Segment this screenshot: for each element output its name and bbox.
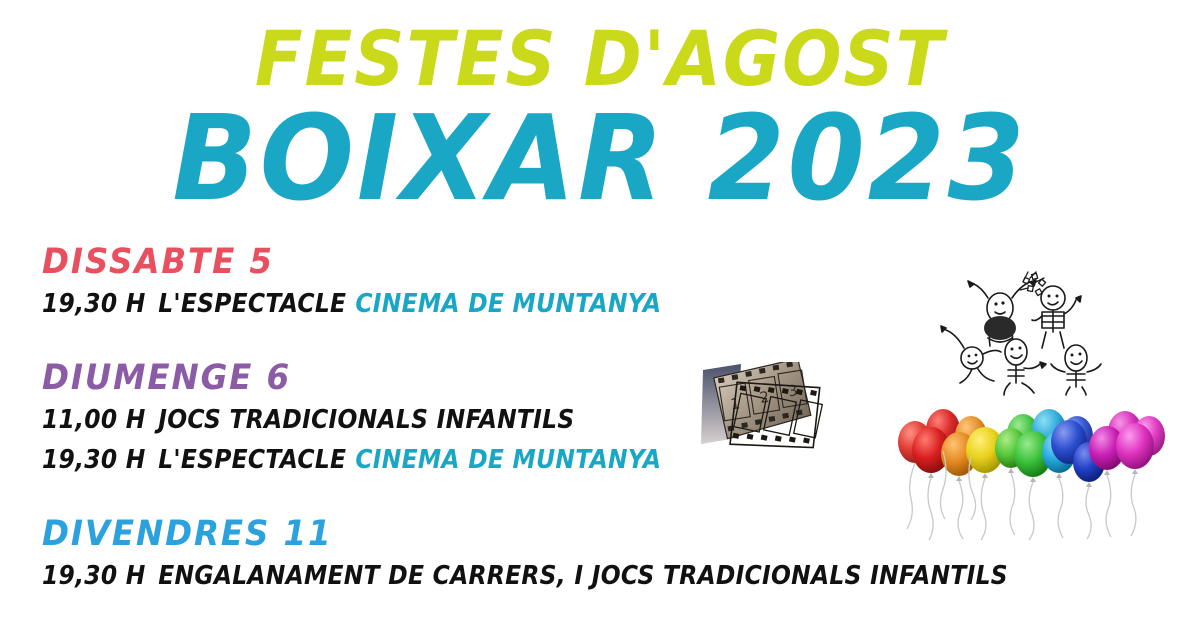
event-time: 19,30 H [42,289,146,319]
balloons-photo-image [893,402,1165,544]
festival-poster: FESTES D'AGOST BOIXAR 2023 DISSABTE 5 19… [0,0,1200,627]
event-row: 19,30 HL'ESPECTACLECINEMA DE MUNTANYA [42,284,1050,324]
poster-title-secondary: BOIXAR 2023 [36,92,1164,224]
event-description: JOCS TRADICIONALS INFANTILS [158,405,574,435]
event-time: 19,30 H [42,561,146,591]
event-description: ENGALANAMENT DE CARRERS, I JOCS TRADICIO… [158,561,1008,591]
event-time: 19,30 H [42,445,146,475]
kids-playing-cartoon-image [928,250,1112,396]
event-description: L'ESPECTACLE [158,445,346,475]
event-time: 11,00 H [42,405,146,435]
event-row: 19,30 HENGALANAMENT DE CARRERS, I JOCS T… [42,556,1050,596]
event-highlight: CINEMA DE MUNTANYA [355,289,661,319]
event-highlight: CINEMA DE MUNTANYA [355,445,661,475]
event-description: L'ESPECTACLE [158,289,346,319]
film-strip-photo-image: 1 2 3 [697,362,833,462]
